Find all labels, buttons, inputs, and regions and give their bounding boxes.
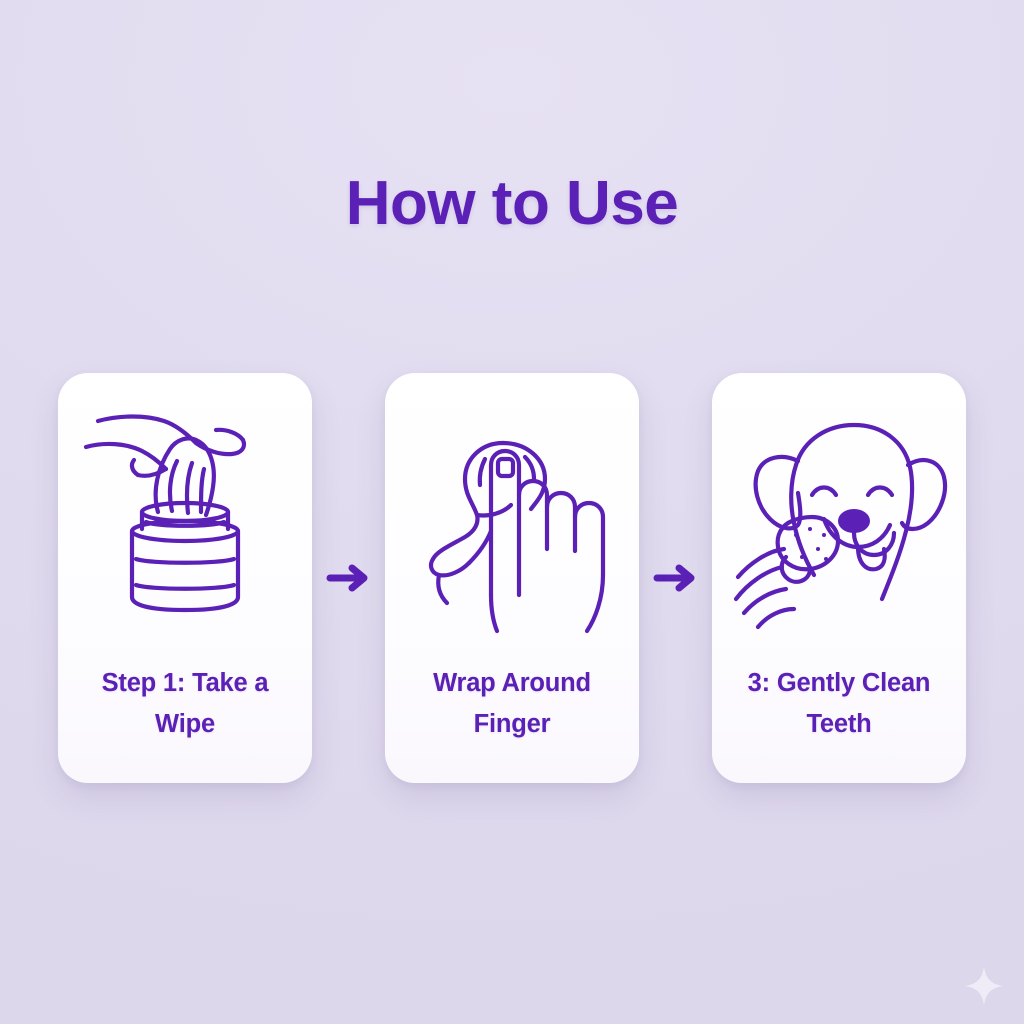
arrow-right-icon-1 bbox=[318, 547, 380, 609]
step-card-3-label: 3: Gently Clean Teeth bbox=[723, 663, 955, 746]
arrow-right-icon-2 bbox=[645, 547, 707, 609]
hand-with-wipe-wrapped-finger-icon bbox=[407, 399, 617, 631]
page-title: How to Use bbox=[0, 168, 1024, 239]
how-to-use-infographic: How to Use bbox=[0, 0, 1024, 1024]
step-card-1[interactable]: Step 1: Take a Wipe bbox=[58, 373, 312, 783]
step-card-1-label: Step 1: Take a Wipe bbox=[69, 663, 301, 746]
finger-cleaning-dog-teeth-icon bbox=[734, 399, 944, 631]
steps-row: Step 1: Take a Wipe bbox=[58, 373, 966, 783]
step-card-3[interactable]: 3: Gently Clean Teeth bbox=[712, 373, 966, 783]
step-card-2[interactable]: Wrap Around Finger bbox=[385, 373, 639, 783]
hand-pulling-wipe-from-canister-icon bbox=[80, 399, 290, 631]
step-card-2-label: Wrap Around Finger bbox=[396, 663, 628, 746]
sparkle-icon bbox=[962, 964, 1006, 1008]
